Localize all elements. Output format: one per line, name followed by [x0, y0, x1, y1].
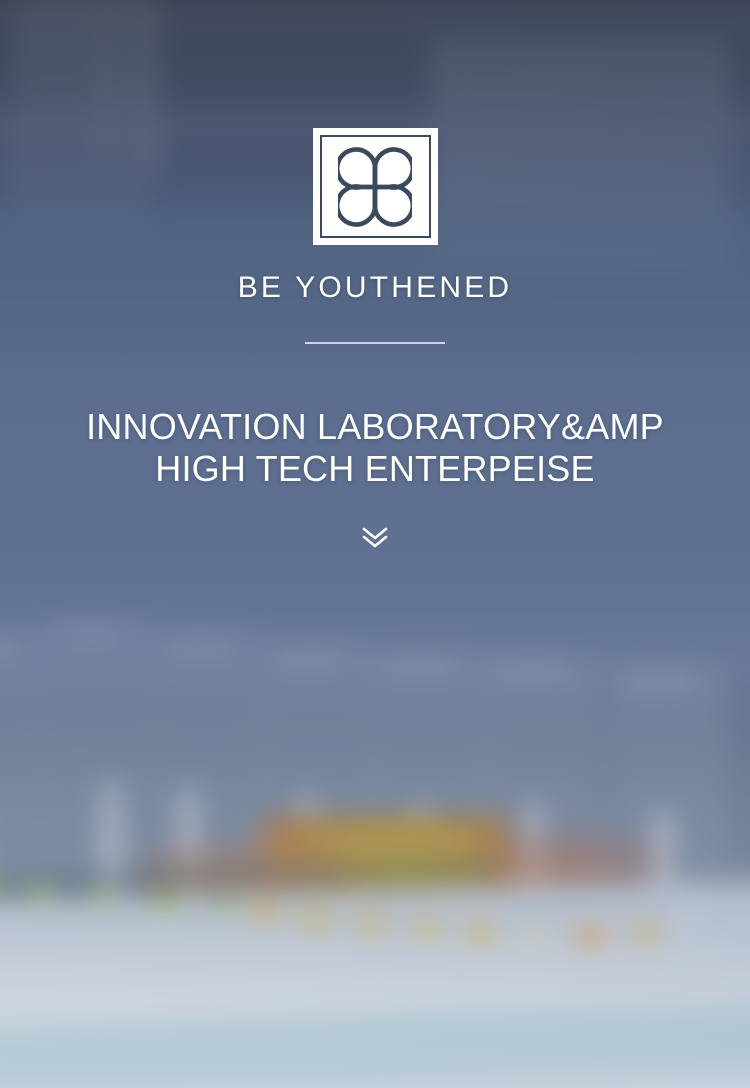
divider-rule	[305, 342, 445, 344]
brand-logo[interactable]	[313, 128, 438, 245]
logo-inner-frame	[320, 135, 431, 238]
headline-line-1: INNOVATION LABORATORY&AMP	[86, 406, 664, 448]
double-chevron-down-icon	[361, 525, 389, 549]
page-title: INNOVATION LABORATORY&AMP HIGH TECH ENTE…	[86, 406, 664, 490]
hero-content: BE YOUTHENED INNOVATION LABORATORY&AMP H…	[0, 0, 750, 1088]
butterfly-monogram-bb-logo-icon	[338, 144, 412, 230]
brand-name: BE YOUTHENED	[238, 273, 513, 303]
headline-line-2: HIGH TECH ENTERPEISE	[86, 448, 664, 490]
scroll-down-button[interactable]	[355, 520, 395, 554]
hero-banner: BE YOUTHENED INNOVATION LABORATORY&AMP H…	[0, 0, 750, 1088]
